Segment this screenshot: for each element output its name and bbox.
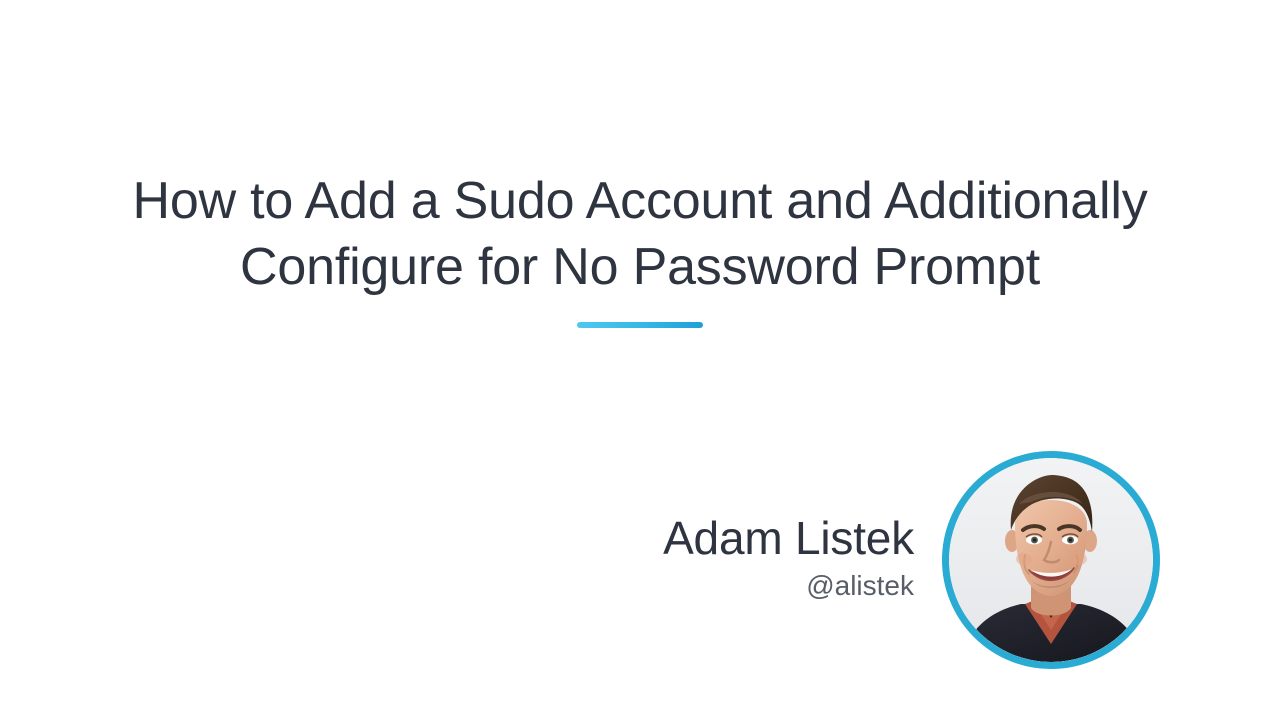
presenter-handle: @alistek [806, 567, 914, 605]
avatar-photo [949, 458, 1153, 662]
slide-title: How to Add a Sudo Account and Additional… [0, 168, 1280, 300]
accent-underline [577, 322, 703, 328]
slide-title-line-1: How to Add a Sudo Account and Additional… [0, 168, 1280, 234]
accent-underline-container [0, 313, 1280, 321]
title-slide: How to Add a Sudo Account and Additional… [0, 0, 1280, 720]
presenter-text: Adam Listek @alistek [663, 511, 942, 609]
presenter-block: Adam Listek @alistek [520, 440, 1160, 680]
avatar [942, 451, 1160, 669]
portrait-illustration [949, 458, 1153, 662]
slide-title-line-2: Configure for No Password Prompt [0, 234, 1280, 300]
presenter-name: Adam Listek [663, 511, 914, 565]
